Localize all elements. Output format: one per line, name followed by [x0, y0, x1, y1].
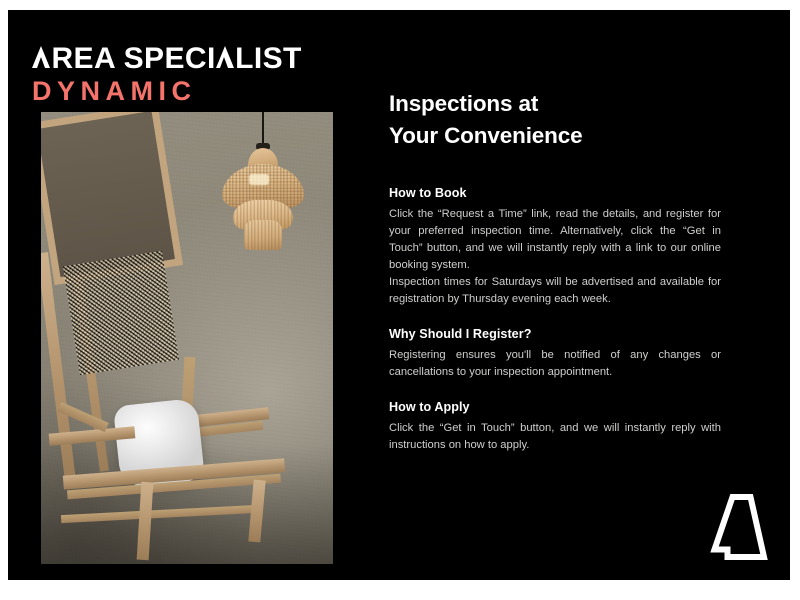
chair-stretcher — [61, 505, 257, 523]
page-title-line1: Inspections at — [389, 88, 721, 120]
page-title: Inspections at Your Convenience — [389, 88, 721, 152]
section-how-to-book: How to Book Click the “Request a Time” l… — [389, 186, 721, 308]
triangle-a-icon — [32, 46, 51, 68]
section-heading: How to Apply — [389, 400, 721, 414]
lounge-chair — [41, 112, 333, 564]
page-title-line2: Your Convenience — [389, 120, 721, 152]
section-heading: Why Should I Register? — [389, 327, 721, 341]
section-paragraph: Inspection times for Saturdays will be a… — [389, 274, 721, 308]
brand-name-secondary: DYNAMIC — [32, 78, 302, 105]
section-paragraph: Registering ensures you'll be notified o… — [389, 347, 721, 381]
interior-photo — [41, 112, 333, 564]
triangle-a-logo-icon — [702, 494, 768, 564]
brand-name-primary: REA SPECILIST — [32, 44, 302, 74]
section-why-register: Why Should I Register? Registering ensur… — [389, 327, 721, 381]
triangle-a-icon — [216, 46, 235, 68]
brand-name-primary-part1: REA SPECI — [51, 42, 215, 75]
section-paragraph: Click the “Get in Touch” button, and we … — [389, 420, 721, 454]
page: REA SPECILIST DYNAMIC — [0, 0, 800, 600]
content-column: Inspections at Your Convenience How to B… — [389, 88, 721, 454]
brand-logo: REA SPECILIST DYNAMIC — [32, 44, 302, 105]
chair-cane-weave — [63, 251, 179, 375]
brand-name-primary-part2: LIST — [235, 42, 302, 75]
brand-mark — [702, 494, 768, 564]
chair-front-leg-right — [248, 480, 265, 543]
section-heading: How to Book — [389, 186, 721, 200]
section-how-to-apply: How to Apply Click the “Get in Touch” bu… — [389, 400, 721, 454]
section-paragraph: Click the “Request a Time” link, read th… — [389, 206, 721, 274]
slide-canvas: REA SPECILIST DYNAMIC — [8, 10, 790, 580]
